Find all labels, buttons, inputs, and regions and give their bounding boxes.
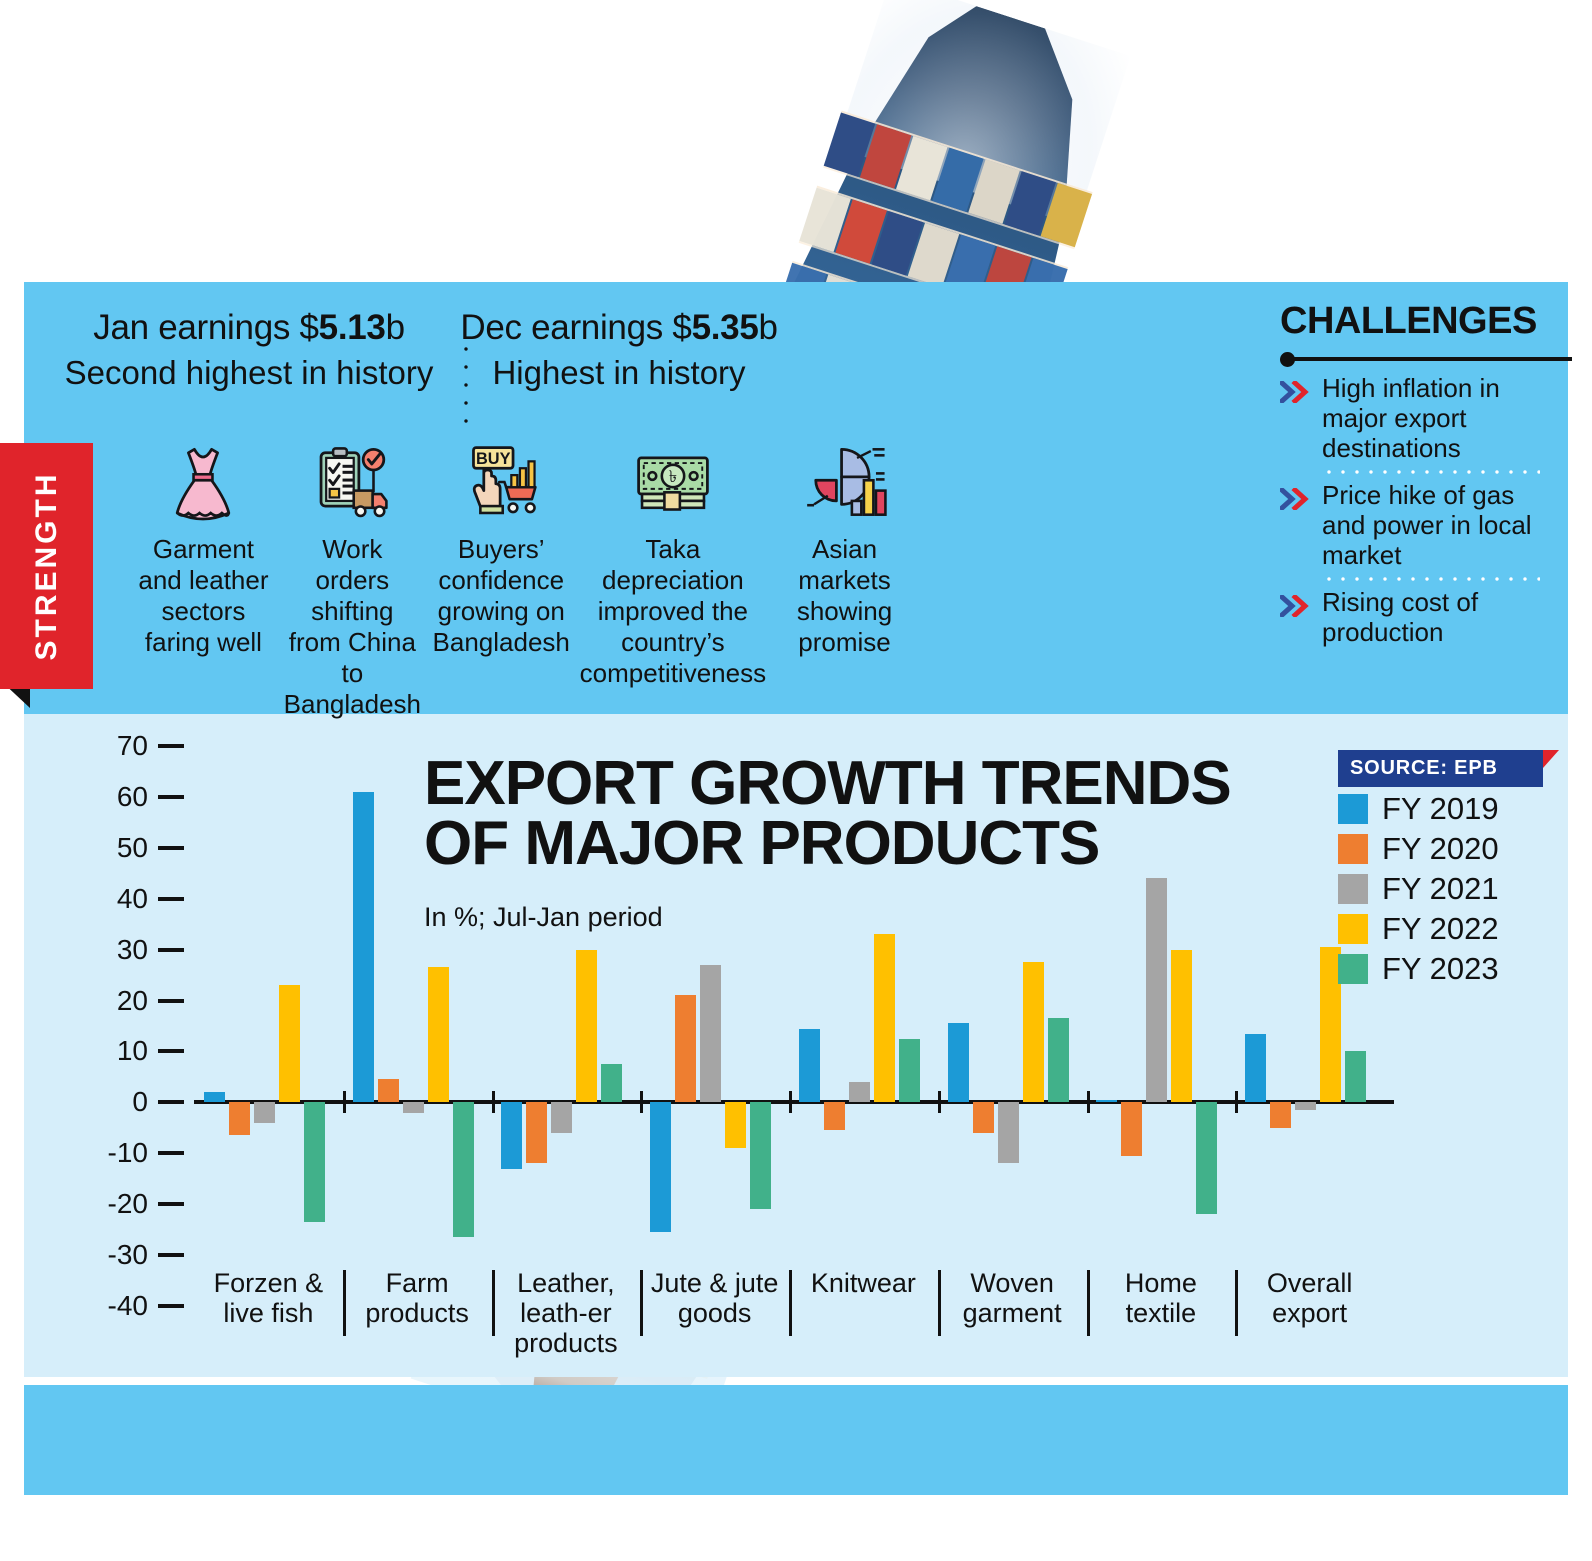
buy-cart-icon: BUY — [431, 434, 572, 530]
y-tick-dash — [158, 744, 184, 748]
y-axis-tick: 30 — [92, 934, 184, 966]
x-label-separator — [640, 1270, 643, 1336]
bar — [998, 1102, 1019, 1163]
group-tick — [492, 1091, 495, 1113]
earnings-dec: Dec earnings $5.35b Highest in history — [434, 308, 804, 392]
x-label-separator — [789, 1270, 792, 1336]
y-tick-label: -40 — [92, 1290, 148, 1322]
strength-item-label: Garment and leather sectors faring well — [133, 534, 274, 658]
strength-tab: STRENGTH — [0, 443, 93, 689]
double-chevron-icon — [1280, 480, 1312, 570]
bar — [279, 985, 300, 1102]
chart-legend: SOURCE: EPB FY 2019FY 2020FY 2021FY 2022… — [1338, 750, 1558, 987]
x-axis-label: Leather, leath-​er products — [492, 1268, 641, 1358]
y-tick-label: 60 — [92, 781, 148, 813]
challenge-item: Rising cost of production — [1280, 587, 1540, 647]
legend-label: FY 2021 — [1382, 871, 1499, 907]
strength-challenges-panel: Jan earnings $5.13b Second highest in hi… — [24, 282, 1568, 714]
challenges-title: CHALLENGES — [1280, 300, 1540, 343]
y-axis-tick: 0 — [92, 1086, 184, 1118]
earnings-jan: Jan earnings $5.13b Second highest in hi… — [64, 308, 434, 392]
banknote-taka-icon: ৳ — [580, 434, 766, 530]
y-tick-dash — [158, 846, 184, 850]
challenges-section: CHALLENGES High inflation in major expor… — [1280, 300, 1540, 647]
y-axis-tick: 10 — [92, 1035, 184, 1067]
bar — [725, 1102, 746, 1148]
group-tick — [1087, 1091, 1090, 1113]
double-chevron-icon — [1280, 373, 1312, 463]
strength-item-label: Work orders shifting from China to Bangl… — [282, 534, 423, 720]
ship-bow-haze — [836, 0, 1131, 225]
y-tick-dash — [158, 1049, 184, 1053]
svg-text:BUY: BUY — [476, 450, 511, 468]
chart-title-line2: OF MAJOR PRODUCTS — [424, 814, 1231, 874]
bar — [1121, 1102, 1142, 1155]
challenge-label: Price hike of gas and power in local mar… — [1322, 480, 1540, 570]
y-tick-label: 10 — [92, 1035, 148, 1067]
y-tick-dash — [158, 948, 184, 952]
clipboard-truck-icon — [282, 434, 423, 530]
y-axis-tick: -20 — [92, 1188, 184, 1220]
challenges-rule — [1280, 351, 1540, 365]
group-tick — [789, 1091, 792, 1113]
ship-container-row — [823, 110, 1093, 249]
y-tick-dash — [158, 1151, 184, 1155]
x-label-separator — [938, 1270, 941, 1336]
group-tick — [343, 1091, 346, 1113]
challenge-separator — [1322, 470, 1540, 474]
y-axis-tick: 20 — [92, 985, 184, 1017]
bar — [1048, 1018, 1069, 1102]
y-tick-dash — [158, 1253, 184, 1257]
x-label-separator — [1087, 1270, 1090, 1336]
y-tick-label: -20 — [92, 1188, 148, 1220]
bar — [403, 1102, 424, 1112]
pie-bar-chart-icon — [774, 434, 915, 530]
dotted-divider — [464, 340, 468, 432]
legend-swatch — [1338, 834, 1368, 864]
y-tick-dash — [158, 1304, 184, 1308]
bar — [601, 1064, 622, 1102]
x-axis-label: Woven garment — [938, 1268, 1087, 1328]
source-badge: SOURCE: EPB — [1338, 750, 1543, 787]
challenge-label: Rising cost of production — [1322, 587, 1540, 647]
bar — [973, 1102, 994, 1133]
bar — [353, 792, 374, 1103]
earnings-row: Jan earnings $5.13b Second highest in hi… — [64, 308, 804, 392]
strength-item-asian-markets: Asian markets showing promise — [770, 434, 919, 720]
svg-text:৳: ৳ — [669, 467, 677, 486]
legend-items: FY 2019FY 2020FY 2021FY 2022FY 2023 — [1338, 791, 1558, 987]
x-axis-label: Home textile — [1087, 1268, 1236, 1328]
x-axis-label: Farm products — [343, 1268, 492, 1328]
rule-line — [1288, 357, 1572, 361]
dress-icon — [133, 434, 274, 530]
y-tick-label: 20 — [92, 985, 148, 1017]
bar — [1270, 1102, 1291, 1127]
challenge-item: High inflation in major export destinati… — [1280, 373, 1540, 463]
chart-title-line1: EXPORT GROWTH TRENDS — [424, 754, 1231, 814]
y-tick-label: 70 — [92, 730, 148, 762]
group-tick — [640, 1091, 643, 1113]
challenge-separator — [1322, 577, 1540, 581]
bar — [551, 1102, 572, 1133]
legend-item[interactable]: FY 2022 — [1338, 911, 1558, 947]
y-axis-tick: 50 — [92, 832, 184, 864]
chart-panel: EXPORT GROWTH TRENDS OF MAJOR PRODUCTS I… — [24, 714, 1568, 1377]
strength-item-label: Asian markets showing promise — [774, 534, 915, 658]
chart-subtitle: In %; Jul-Jan period — [424, 902, 663, 933]
legend-label: FY 2020 — [1382, 831, 1499, 867]
bar — [501, 1102, 522, 1168]
bar — [1196, 1102, 1217, 1214]
strength-tab-label: STRENGTH — [30, 472, 64, 661]
bar — [229, 1102, 250, 1135]
legend-item[interactable]: FY 2020 — [1338, 831, 1558, 867]
y-tick-label: 40 — [92, 883, 148, 915]
bar — [1295, 1102, 1316, 1110]
bar — [1171, 950, 1192, 1103]
y-tick-dash — [158, 897, 184, 901]
chart-title: EXPORT GROWTH TRENDS OF MAJOR PRODUCTS — [424, 754, 1231, 874]
group-tick — [1235, 1091, 1238, 1113]
strength-item-label: Buyers’ confidence growing on Bangladesh — [431, 534, 572, 658]
strength-item-label: Taka depreciation improved the country’s… — [580, 534, 766, 689]
bar — [799, 1029, 820, 1103]
bar — [700, 965, 721, 1102]
y-tick-dash — [158, 999, 184, 1003]
y-tick-label: 0 — [92, 1086, 148, 1118]
bar — [1096, 1100, 1117, 1103]
y-axis-tick: 40 — [92, 883, 184, 915]
bar — [378, 1079, 399, 1102]
double-chevron-icon — [1280, 587, 1312, 647]
bar — [948, 1023, 969, 1102]
y-tick-dash — [158, 1202, 184, 1206]
x-label-separator — [492, 1270, 495, 1336]
y-tick-label: 50 — [92, 832, 148, 864]
earnings-dec-headline: Dec earnings $5.35b — [434, 308, 804, 348]
y-axis-tick: -40 — [92, 1290, 184, 1322]
bar — [204, 1092, 225, 1102]
bar — [576, 950, 597, 1103]
strength-item-work-orders: Work orders shifting from China to Bangl… — [278, 434, 427, 720]
bar — [453, 1102, 474, 1237]
bar — [650, 1102, 671, 1232]
legend-swatch — [1338, 794, 1368, 824]
x-label-separator — [343, 1270, 346, 1336]
y-tick-label: -30 — [92, 1239, 148, 1271]
challenge-label: High inflation in major export destinati… — [1322, 373, 1540, 463]
challenge-item: Price hike of gas and power in local mar… — [1280, 480, 1540, 570]
legend-swatch — [1338, 954, 1368, 984]
legend-item[interactable]: FY 2021 — [1338, 871, 1558, 907]
x-axis-label: Overall export — [1235, 1268, 1384, 1328]
legend-label: FY 2022 — [1382, 911, 1499, 947]
y-tick-dash — [158, 795, 184, 799]
strength-item-garment: Garment and leather sectors faring well — [129, 434, 278, 720]
bar — [254, 1102, 275, 1122]
bar — [1023, 962, 1044, 1102]
legend-label: FY 2023 — [1382, 951, 1499, 987]
x-axis-label: Forzen & live fish — [194, 1268, 343, 1328]
bar — [1245, 1034, 1266, 1103]
legend-item[interactable]: FY 2023 — [1338, 951, 1558, 987]
bar — [874, 934, 895, 1102]
y-axis: 706050403020100-10-20-30-40 — [64, 746, 184, 1306]
strength-item-taka-depreciation: ৳ Taka depreciation improved the country… — [576, 434, 770, 720]
y-tick-dash — [158, 1100, 184, 1104]
strength-item-buyers-confidence: BUY Buyers’ confidence growing on Bangla… — [427, 434, 576, 720]
bar — [1146, 878, 1167, 1102]
legend-swatch — [1338, 874, 1368, 904]
bottom-blue-bar — [24, 1385, 1568, 1495]
bar — [899, 1039, 920, 1103]
earnings-jan-headline: Jan earnings $5.13b — [64, 308, 434, 348]
x-axis-label: Jute & jute goods — [640, 1268, 789, 1328]
y-axis-tick: -10 — [92, 1137, 184, 1169]
legend-label: FY 2019 — [1382, 791, 1499, 827]
bar — [849, 1082, 870, 1102]
bar — [304, 1102, 325, 1222]
earnings-dec-note: Highest in history — [434, 354, 804, 392]
bar — [428, 967, 449, 1102]
bar — [675, 995, 696, 1102]
strength-items-row: Garment and leather sectors faring well — [129, 434, 919, 720]
bar — [1345, 1051, 1366, 1102]
y-axis-tick: -30 — [92, 1239, 184, 1271]
x-label-separator — [1235, 1270, 1238, 1336]
y-axis-tick: 60 — [92, 781, 184, 813]
bar — [526, 1102, 547, 1163]
bar — [824, 1102, 845, 1130]
x-axis-label: Knitwear — [789, 1268, 938, 1298]
earnings-jan-note: Second highest in history — [64, 354, 434, 392]
group-tick — [938, 1091, 941, 1113]
y-tick-label: -10 — [92, 1137, 148, 1169]
y-tick-label: 30 — [92, 934, 148, 966]
legend-item[interactable]: FY 2019 — [1338, 791, 1558, 827]
legend-swatch — [1338, 914, 1368, 944]
y-axis-tick: 70 — [92, 730, 184, 762]
bar — [750, 1102, 771, 1209]
